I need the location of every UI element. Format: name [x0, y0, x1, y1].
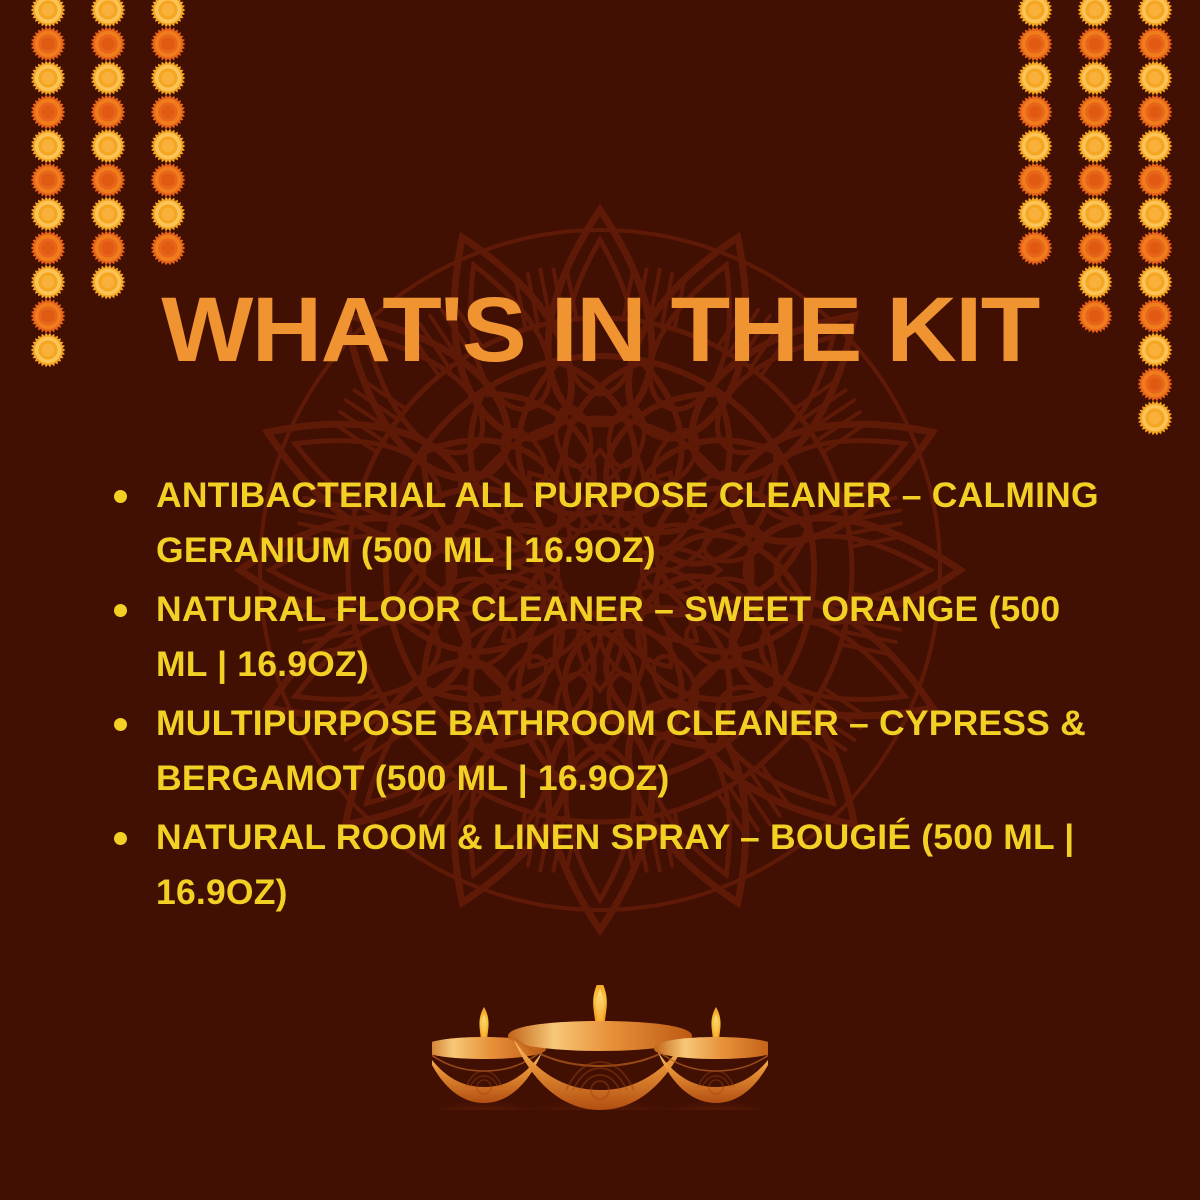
- list-item-label: ANTIBACTERIAL ALL PURPOSE CLEANER – CALM…: [156, 475, 1099, 570]
- list-item-label: MULTIPURPOSE BATHROOM CLEANER – CYPRESS …: [156, 703, 1086, 798]
- bullet-icon: [114, 832, 127, 845]
- marigold-flower-icon: [1007, 220, 1063, 276]
- bullet-icon: [114, 604, 127, 617]
- page-title: WHAT'S IN THE KIT: [0, 282, 1200, 378]
- garland-left-3: [140, 0, 196, 254]
- list-item: NATURAL FLOOR CLEANER – SWEET ORANGE (50…: [104, 582, 1104, 692]
- garland-right-1: [1007, 0, 1063, 254]
- garland-right-2: [1067, 0, 1123, 322]
- bullet-icon: [114, 490, 127, 503]
- diya-small-left: [432, 1007, 550, 1110]
- marigold-flower-icon: [1127, 390, 1183, 446]
- list-item-label: NATURAL FLOOR CLEANER – SWEET ORANGE (50…: [156, 589, 1060, 684]
- poster-canvas: WHAT'S IN THE KIT ANTIBACTERIAL ALL PURP…: [0, 0, 1200, 1200]
- list-item: NATURAL ROOM & LINEN SPRAY – BOUGIÉ (500…: [104, 810, 1104, 920]
- list-item: MULTIPURPOSE BATHROOM CLEANER – CYPRESS …: [104, 696, 1104, 806]
- bullet-icon: [114, 718, 127, 731]
- garland-left-2: [80, 0, 136, 288]
- list-item-label: NATURAL ROOM & LINEN SPRAY – BOUGIÉ (500…: [156, 817, 1074, 912]
- kit-contents-list: ANTIBACTERIAL ALL PURPOSE CLEANER – CALM…: [104, 468, 1104, 924]
- marigold-flower-icon: [140, 220, 196, 276]
- diya-small-right: [650, 1007, 768, 1110]
- list-item: ANTIBACTERIAL ALL PURPOSE CLEANER – CALM…: [104, 468, 1104, 578]
- diya-lamps-group: [432, 985, 768, 1110]
